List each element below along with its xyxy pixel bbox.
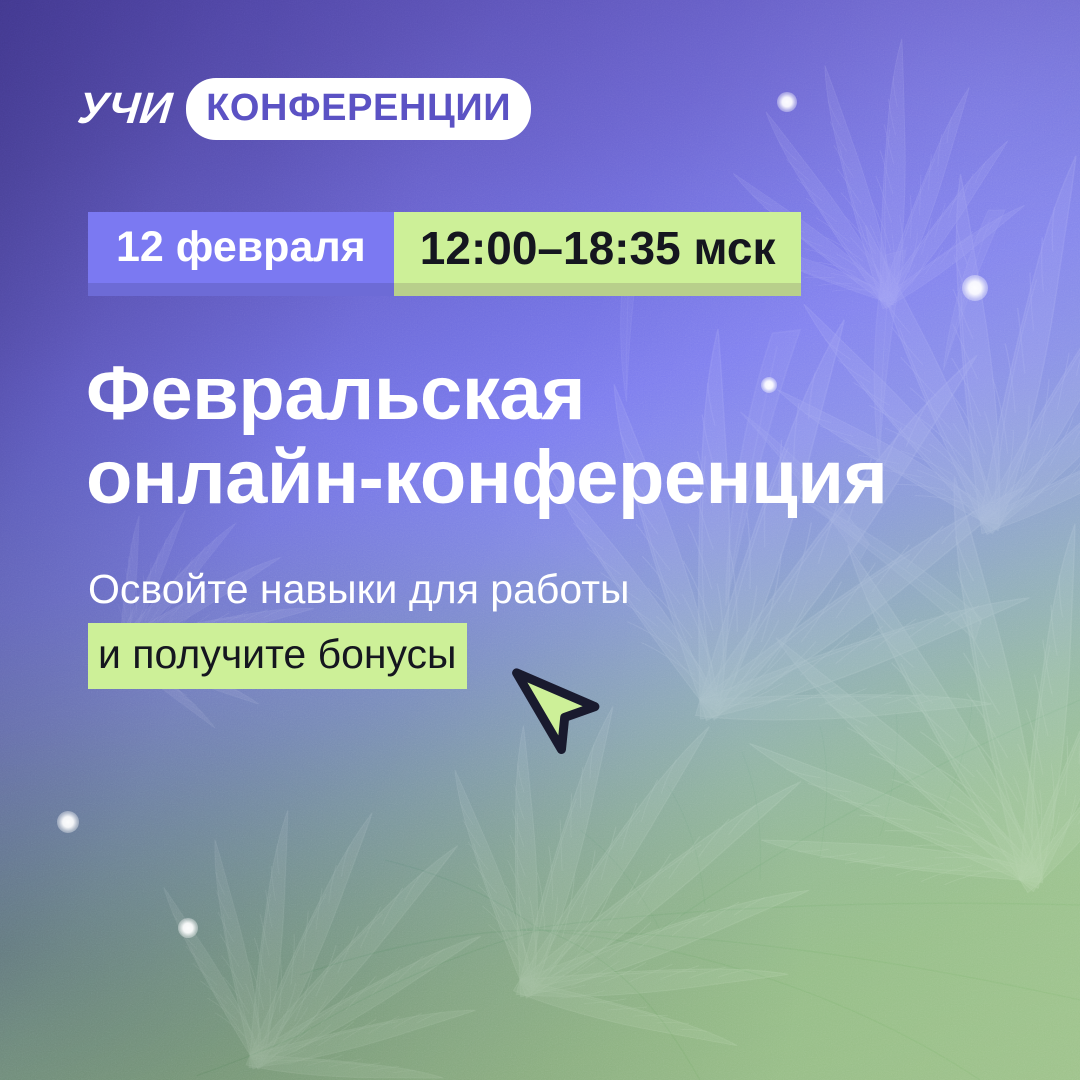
badge-time-label: 12:00–18:35 мск [394,212,802,283]
headline-line-2: онлайн-конференция [86,436,887,520]
frost-fern-pattern-secondary-icon [0,0,1080,1080]
badge-time: 12:00–18:35 мск [394,212,802,296]
subtitle-line-2-highlight: и получите бонусы [88,623,467,688]
logo-wordmark: УЧИ [76,87,175,131]
badge-date-label: 12 февраля [88,212,394,283]
subtitle-line-1: Освойте навыки для работы [88,563,630,616]
headline-line-1: Февральская [86,352,887,436]
badge-date-shadow [88,283,394,296]
brand-logo[interactable]: УЧИ КОНФЕРЕНЦИИ [78,78,531,140]
event-badges: 12 февраля 12:00–18:35 мск [88,212,801,296]
logo-pill-label: КОНФЕРЕНЦИИ [186,78,531,140]
badge-time-shadow [394,283,802,296]
badge-date: 12 февраля [88,212,394,296]
page-title: Февральская онлайн-конференция [86,352,887,519]
arrow-pointer-icon [505,655,609,755]
banner-canvas: УЧИ КОНФЕРЕНЦИИ 12 февраля 12:00–18:35 м… [0,0,1080,1080]
